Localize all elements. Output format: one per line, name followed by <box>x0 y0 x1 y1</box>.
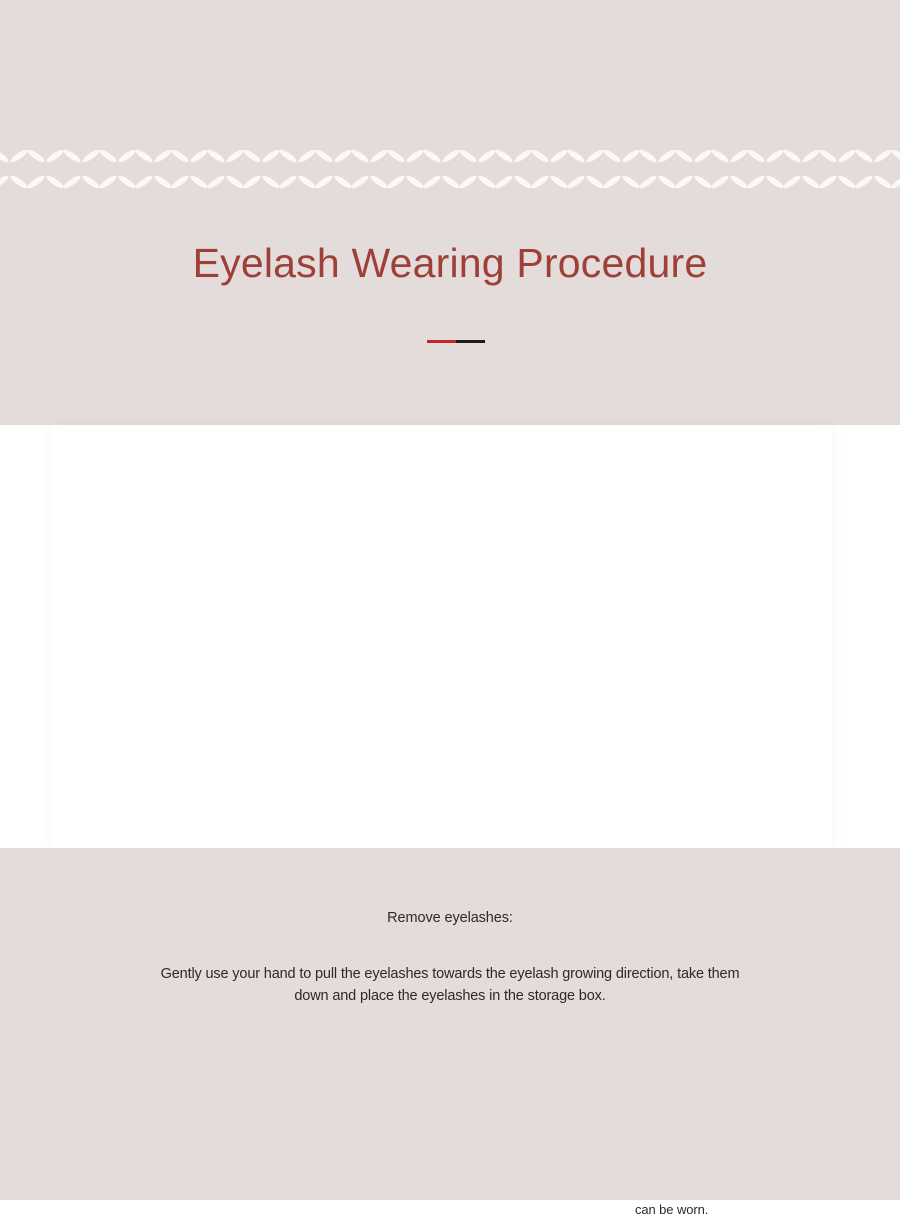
x-motif-icon <box>568 148 604 192</box>
x-motif-petal <box>45 174 65 190</box>
x-motif-petal <box>477 174 497 190</box>
x-motif-petal <box>818 174 838 190</box>
x-motif-petal <box>134 174 154 190</box>
x-motif-icon <box>712 148 748 192</box>
x-motif-petal <box>477 148 497 164</box>
x-motif-petal <box>621 174 641 190</box>
x-motif-petal <box>405 148 425 164</box>
x-motif-petal <box>585 148 605 164</box>
x-motif-petal <box>62 148 82 164</box>
x-motif-petal <box>585 174 605 190</box>
x-motif-petal <box>494 174 514 190</box>
x-motif-petal <box>549 148 569 164</box>
x-motif-petal <box>710 174 730 190</box>
x-motif-petal <box>458 174 478 190</box>
footer-band: Remove eyelashes: Gently use your hand t… <box>0 848 900 1200</box>
x-motif-icon <box>172 148 208 192</box>
x-pattern-decoration <box>0 148 900 192</box>
x-motif-icon <box>604 148 640 192</box>
x-motif-petal <box>350 148 370 164</box>
x-motif-petal <box>314 174 334 190</box>
x-motif-petal <box>369 174 389 190</box>
x-motif-petal <box>549 174 569 190</box>
x-motif-petal <box>674 174 694 190</box>
x-motif-petal <box>278 148 298 164</box>
x-motif-petal <box>693 148 713 164</box>
x-motif-petal <box>729 148 749 164</box>
x-motif-petal <box>261 174 281 190</box>
x-motif-icon <box>424 148 460 192</box>
x-motif-petal <box>422 148 442 164</box>
title-divider <box>427 340 485 343</box>
x-motif-petal <box>530 174 550 190</box>
x-motif-petal <box>297 174 317 190</box>
steps-section: Step 1 Take out one eyelash and separate… <box>0 425 900 848</box>
x-motif-icon <box>244 148 280 192</box>
x-motif-petal <box>297 148 317 164</box>
steps-card <box>52 425 832 848</box>
x-motif-petal <box>153 174 173 190</box>
x-motif-petal <box>873 174 893 190</box>
x-motif-petal <box>242 148 262 164</box>
x-motif-petal <box>782 174 802 190</box>
remove-section-heading: Remove eyelashes: <box>0 910 900 926</box>
x-motif-icon <box>136 148 172 192</box>
x-motif-petal <box>153 148 173 164</box>
x-motif-petal <box>405 174 425 190</box>
x-motif-icon <box>316 148 352 192</box>
x-motif-petal <box>45 148 65 164</box>
x-motif-icon <box>820 148 856 192</box>
x-motif-petal <box>386 148 406 164</box>
x-motif-icon <box>676 148 712 192</box>
x-motif-petal <box>674 148 694 164</box>
x-motif-petal <box>801 148 821 164</box>
x-motif-petal <box>170 174 190 190</box>
x-motif-petal <box>494 148 514 164</box>
x-motif-petal <box>801 174 821 190</box>
x-motif-icon <box>892 148 900 192</box>
x-motif-petal <box>638 174 658 190</box>
x-motif-petal <box>314 148 334 164</box>
x-motif-petal <box>26 148 46 164</box>
x-motif-petal <box>818 148 838 164</box>
x-motif-petal <box>602 174 622 190</box>
x-motif-petal <box>386 174 406 190</box>
x-motif-petal <box>98 148 118 164</box>
x-motif-petal <box>765 148 785 164</box>
x-motif-petal <box>242 174 262 190</box>
x-motif-icon <box>0 148 28 192</box>
x-motif-petal <box>657 174 677 190</box>
x-motif-icon <box>496 148 532 192</box>
x-motif-petal <box>710 148 730 164</box>
x-motif-petal <box>117 148 137 164</box>
x-motif-petal <box>693 174 713 190</box>
x-motif-petal <box>350 174 370 190</box>
x-motif-icon <box>460 148 496 192</box>
x-motif-petal <box>837 174 857 190</box>
x-motif-icon <box>352 148 388 192</box>
x-motif-petal <box>441 148 461 164</box>
divider-segment-red <box>427 340 456 343</box>
x-motif-petal <box>746 174 766 190</box>
x-motif-petal <box>9 174 29 190</box>
x-motif-petal <box>278 174 298 190</box>
x-motif-petal <box>782 148 802 164</box>
x-motif-petal <box>333 174 353 190</box>
x-motif-petal <box>530 148 550 164</box>
x-motif-petal <box>189 148 209 164</box>
x-motif-petal <box>638 148 658 164</box>
x-motif-petal <box>765 174 785 190</box>
x-motif-petal <box>657 148 677 164</box>
x-motif-petal <box>566 148 586 164</box>
x-motif-petal <box>333 148 353 164</box>
x-motif-petal <box>261 148 281 164</box>
x-motif-petal <box>0 148 10 164</box>
x-motif-petal <box>513 174 533 190</box>
x-motif-petal <box>189 174 209 190</box>
x-motif-petal <box>458 148 478 164</box>
x-motif-icon <box>28 148 64 192</box>
x-motif-petal <box>441 174 461 190</box>
x-motif-icon <box>784 148 820 192</box>
x-motif-petal <box>729 174 749 190</box>
x-motif-petal <box>854 174 874 190</box>
page-title: Eyelash Wearing Procedure <box>0 240 900 287</box>
x-motif-petal <box>746 148 766 164</box>
x-motif-icon <box>856 148 892 192</box>
x-motif-petal <box>566 174 586 190</box>
x-motif-icon <box>532 148 568 192</box>
x-motif-petal <box>854 148 874 164</box>
x-motif-petal <box>890 148 900 164</box>
remove-section-body: Gently use your hand to pull the eyelash… <box>150 963 750 1007</box>
x-motif-petal <box>9 148 29 164</box>
x-motif-petal <box>206 148 226 164</box>
divider-segment-dark <box>456 340 485 343</box>
x-motif-icon <box>640 148 676 192</box>
x-motif-petal <box>422 174 442 190</box>
x-motif-petal <box>206 174 226 190</box>
x-motif-petal <box>26 174 46 190</box>
x-motif-petal <box>170 148 190 164</box>
x-motif-icon <box>748 148 784 192</box>
x-motif-petal <box>81 174 101 190</box>
x-motif-petal <box>837 148 857 164</box>
x-motif-icon <box>64 148 100 192</box>
x-motif-petal <box>134 148 154 164</box>
x-motif-petal <box>621 148 641 164</box>
x-motif-petal <box>98 174 118 190</box>
x-motif-petal <box>369 148 389 164</box>
x-motif-petal <box>873 148 893 164</box>
x-motif-petal <box>890 174 900 190</box>
x-motif-petal <box>81 148 101 164</box>
x-motif-petal <box>225 148 245 164</box>
eyelash-instruction-page: Eyelash Wearing Procedure Step 1 <box>0 0 900 1200</box>
x-motif-petal <box>602 148 622 164</box>
x-motif-icon <box>388 148 424 192</box>
x-motif-petal <box>62 174 82 190</box>
x-motif-petal <box>0 174 10 190</box>
x-motif-icon <box>280 148 316 192</box>
x-motif-icon <box>100 148 136 192</box>
x-motif-icon <box>208 148 244 192</box>
x-motif-petal <box>513 148 533 164</box>
header-band: Eyelash Wearing Procedure <box>0 0 900 425</box>
x-motif-petal <box>117 174 137 190</box>
x-motif-petal <box>225 174 245 190</box>
